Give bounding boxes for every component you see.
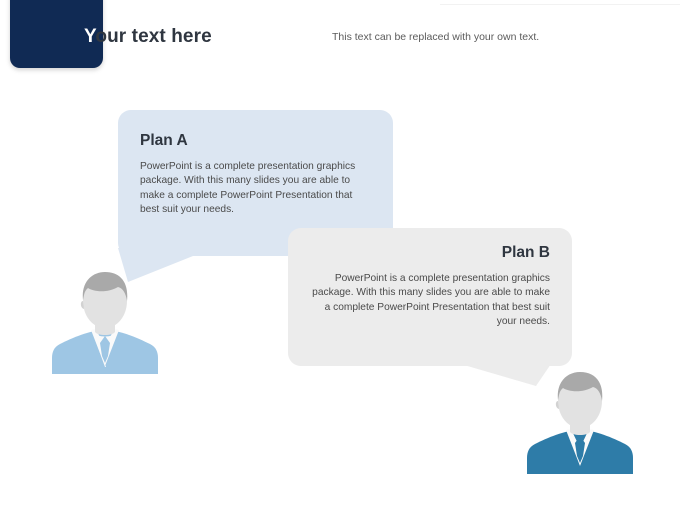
plan-b-title: Plan B: [310, 244, 550, 262]
speech-bubble-plan-b[interactable]: Plan B PowerPoint is a complete presenta…: [288, 228, 572, 366]
plan-a-title: Plan A: [140, 132, 371, 150]
page-title-rest: our text here: [95, 26, 211, 47]
plan-a-body: PowerPoint is a complete presentation gr…: [140, 160, 371, 218]
plan-b-body: PowerPoint is a complete presentation gr…: [310, 272, 550, 330]
slide-canvas: Your text here This text can be replaced…: [0, 0, 680, 510]
page-subtitle: This text can be replaced with your own …: [332, 31, 539, 43]
page-title: Your text here: [84, 26, 212, 48]
header-divider: [440, 4, 680, 5]
businessman-avatar-icon-right: [525, 368, 635, 476]
businessman-avatar-icon-left: [50, 268, 160, 376]
page-title-first-letter: Y: [84, 26, 95, 47]
